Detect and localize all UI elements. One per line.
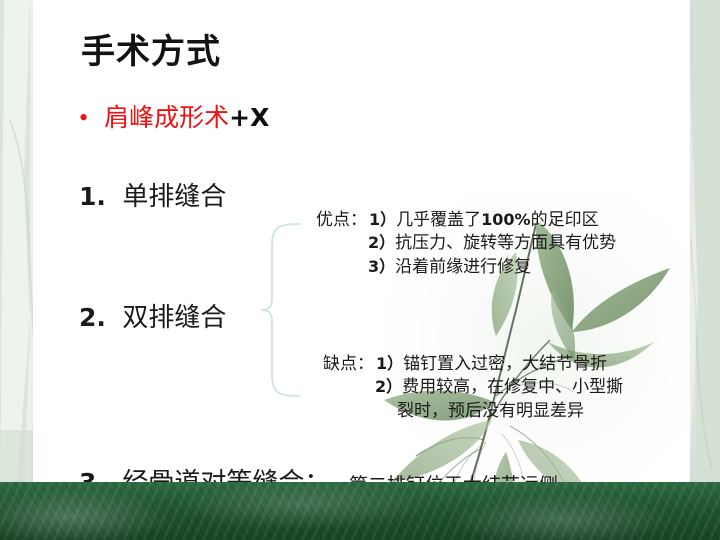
annotation-pros-line-2: 2）抗压力、旋转等方面具有优势 (316, 231, 616, 254)
annotation-cons-line-1: 缺点：1）锚钉置入过密，大结节骨折 (323, 352, 623, 375)
page-title: 手术方式 (81, 24, 221, 73)
annotation-pros-index-3: 3） (368, 257, 395, 276)
list-item-1-label: 单排缝合 (122, 182, 226, 211)
annotation-cons-index-1: 1） (376, 354, 403, 373)
list-item-1-number: 1. (79, 182, 106, 211)
curly-brace-connector (259, 222, 301, 398)
bullet-suffix-text: +X (229, 103, 269, 132)
annotation-cons-line-2: 2）费用较高，在修复中、小型撕 (323, 375, 623, 398)
annotation-pros-emphasis-1: 100% (481, 210, 530, 229)
bottom-green-band (0, 482, 720, 540)
annotation-pros-line-3: 3）沿着前缘进行修复 (316, 255, 616, 278)
annotation-cons-label: 缺点： (323, 354, 374, 373)
annotation-pros-text-1a: 几乎覆盖了 (396, 210, 481, 229)
annotation-pros-text-1b: 的足印区 (531, 210, 599, 229)
annotation-cons-line-3: 裂时，预后没有明显差异 (323, 399, 623, 422)
list-item-2-label: 双排缝合 (122, 303, 226, 332)
bullet-line: • 肩峰成形术 +X (79, 98, 269, 134)
annotation-pros-line-1: 优点：1）几乎覆盖了100%的足印区 (316, 208, 616, 231)
annotation-cons-text-3: 裂时，预后没有明显差异 (397, 401, 584, 420)
list-item-2-number: 2. (79, 303, 106, 332)
slide-canvas: 手术方式 • 肩峰成形术 +X 1. 单排缝合 2. 双排缝合 3. 经骨道对等… (0, 0, 720, 540)
annotation-cons: 缺点：1）锚钉置入过密，大结节骨折 2）费用较高，在修复中、小型撕 裂时，预后没… (323, 352, 623, 422)
annotation-pros-text-2: 抗压力、旋转等方面具有优势 (395, 233, 616, 252)
bullet-dot-icon: • (79, 105, 88, 131)
annotation-cons-text-2: 费用较高，在修复中、小型撕 (402, 377, 623, 396)
list-item-2: 2. 双排缝合 (79, 297, 226, 334)
content-card: 手术方式 • 肩峰成形术 +X 1. 单排缝合 2. 双排缝合 3. 经骨道对等… (33, 0, 690, 520)
annotation-cons-index-2: 2） (375, 377, 402, 396)
annotation-pros-text-3: 沿着前缘进行修复 (395, 257, 531, 276)
annotation-pros-index-2: 2） (368, 233, 395, 252)
annotation-cons-text-1: 锚钉置入过密，大结节骨折 (403, 354, 607, 373)
bullet-highlight-text: 肩峰成形术 (104, 98, 229, 134)
annotation-pros: 优点：1）几乎覆盖了100%的足印区 2）抗压力、旋转等方面具有优势 3）沿着前… (316, 208, 616, 278)
list-item-1: 1. 单排缝合 (79, 176, 226, 213)
annotation-pros-label: 优点： (316, 210, 367, 229)
annotation-pros-index-1: 1） (369, 210, 396, 229)
